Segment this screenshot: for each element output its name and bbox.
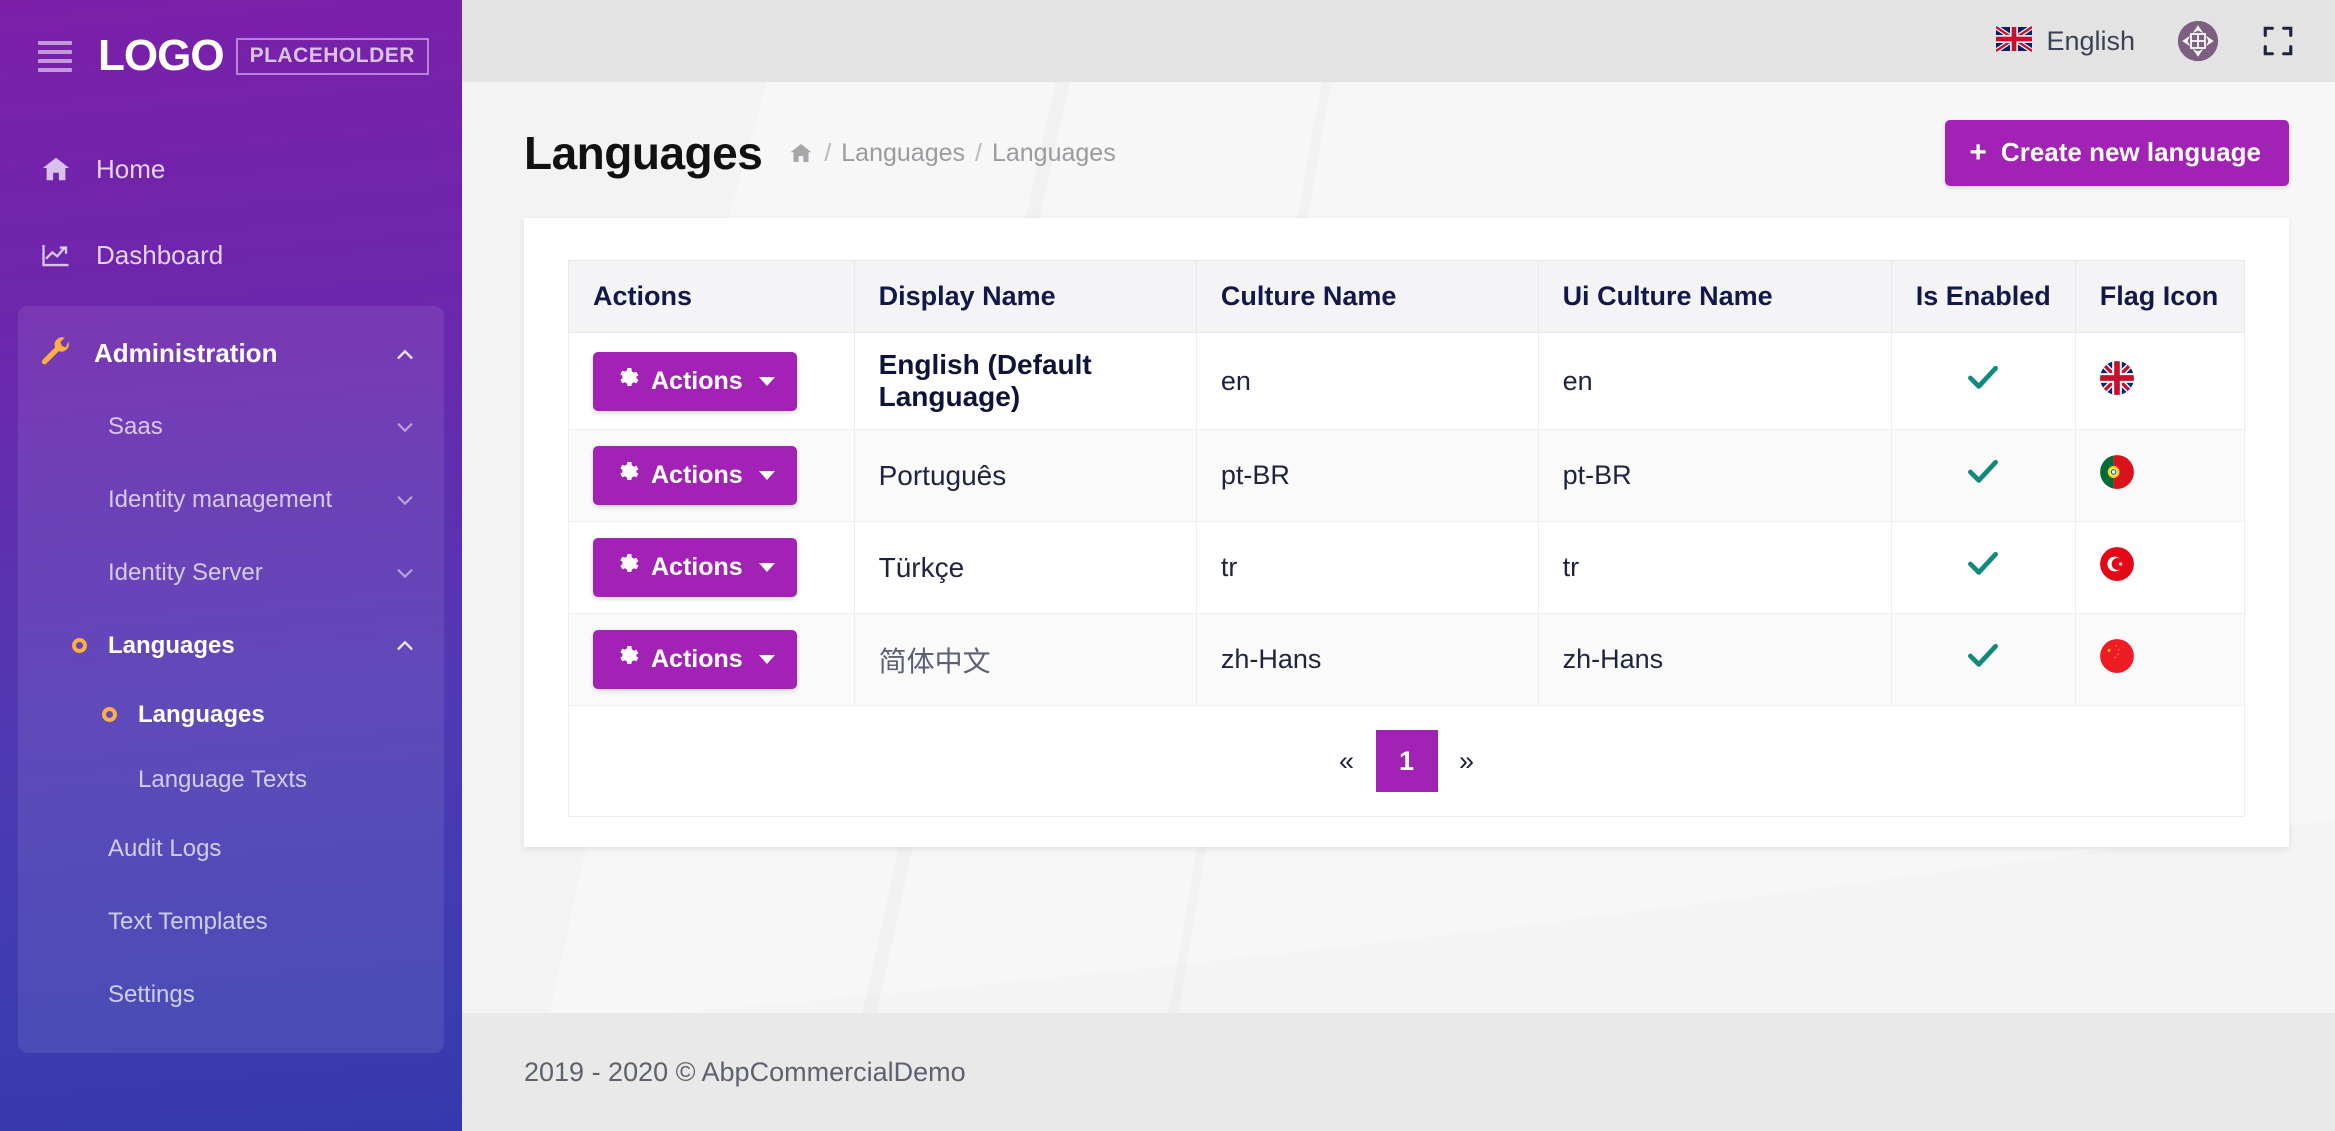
page-content: Languages / Languages / Languages + Crea… — [462, 82, 2335, 1042]
sidebar-nav-top: Home Dashboard — [0, 112, 462, 1053]
main-area: English Language — [462, 0, 2335, 1131]
pagination-prev[interactable]: « — [1318, 730, 1376, 792]
cell-culture-name: zh-Hans — [1196, 614, 1538, 706]
column-header-flag-icon: Flag Icon — [2075, 261, 2244, 333]
cell-flag-icon — [2075, 430, 2244, 522]
sidebar-item-languages-label: Languages — [138, 701, 265, 729]
create-new-language-button[interactable]: + Create new language — [1945, 120, 2289, 186]
display-name-value: Türkçe — [879, 552, 965, 583]
column-header-is-enabled: Is Enabled — [1891, 261, 2075, 333]
cell-culture-name: pt-BR — [1196, 430, 1538, 522]
gear-icon — [615, 552, 639, 583]
page-header: Languages / Languages / Languages + Crea… — [462, 82, 2335, 186]
cell-ui-culture-name: pt-BR — [1538, 430, 1891, 522]
sidebar-item-administration[interactable]: Administration — [18, 316, 444, 390]
flag-uk-icon — [1996, 26, 2032, 57]
gear-icon — [615, 366, 639, 397]
row-actions-label: Actions — [651, 553, 743, 582]
table-body: Actions English (Default Language) en en — [569, 333, 2245, 817]
sidebar-item-text-templates-label: Text Templates — [108, 908, 416, 936]
row-actions-label: Actions — [651, 461, 743, 490]
cell-culture-name: tr — [1196, 522, 1538, 614]
sidebar-group-administration: Administration Saas Identity management — [18, 306, 444, 1053]
pagination-next[interactable]: » — [1438, 730, 1496, 792]
caret-down-icon — [759, 655, 775, 664]
breadcrumb-separator: / — [824, 139, 831, 168]
chevron-up-icon — [394, 635, 416, 657]
table-row: Actions English (Default Language) en en — [569, 333, 2245, 430]
footer: 2019 - 2020 © AbpCommercialDemo — [462, 1013, 2335, 1131]
cell-actions: Actions — [569, 333, 855, 430]
cell-actions: Actions — [569, 430, 855, 522]
app-root: LOGO PLACEHOLDER Home — [0, 0, 2335, 1131]
row-actions-button[interactable]: Actions — [593, 630, 797, 689]
chevron-down-icon — [394, 489, 416, 511]
sidebar-item-home[interactable]: Home — [0, 126, 462, 212]
breadcrumb-item-1[interactable]: Languages — [841, 139, 965, 168]
sidebar-item-audit-logs-label: Audit Logs — [108, 835, 416, 863]
row-actions-label: Actions — [651, 645, 743, 674]
sidebar-item-saas-label: Saas — [108, 413, 378, 441]
active-dot-icon — [72, 638, 87, 653]
table-head: Actions Display Name Culture Name Ui Cul… — [569, 261, 2245, 333]
cell-culture-name: en — [1196, 333, 1538, 430]
cell-display-name: Português — [854, 430, 1196, 522]
languages-card: Actions Display Name Culture Name Ui Cul… — [524, 218, 2289, 847]
cell-flag-icon — [2075, 522, 2244, 614]
caret-down-icon — [759, 563, 775, 572]
plus-icon: + — [1969, 138, 1987, 168]
table-row: Actions 简体中文 zh-Hans zh-Hans — [569, 614, 2245, 706]
caret-down-icon — [759, 377, 775, 386]
cell-is-enabled — [1891, 333, 2075, 430]
home-icon — [38, 154, 74, 184]
logo-badge: PLACEHOLDER — [236, 38, 429, 75]
abp-logo-icon[interactable] — [2177, 20, 2219, 62]
flag-portugal-icon — [2100, 455, 2134, 489]
sidebar-item-identity-management-label: Identity management — [108, 486, 378, 514]
sidebar: LOGO PLACEHOLDER Home — [0, 0, 462, 1131]
column-header-ui-culture-name: Ui Culture Name — [1538, 261, 1891, 333]
cell-ui-culture-name: zh-Hans — [1538, 614, 1891, 706]
footer-copyright: 2019 - 2020 © AbpCommercialDemo — [524, 1057, 966, 1088]
breadcrumb: / Languages / Languages — [788, 139, 1115, 168]
brand-area: LOGO PLACEHOLDER — [0, 0, 462, 112]
sidebar-item-identity-management[interactable]: Identity management — [18, 463, 444, 536]
cell-is-enabled — [1891, 614, 2075, 706]
bullet-slot — [96, 707, 122, 722]
sidebar-item-text-templates[interactable]: Text Templates — [18, 885, 444, 958]
display-name-value: Português — [879, 460, 1007, 491]
row-actions-button[interactable]: Actions — [593, 446, 797, 505]
sidebar-item-languages[interactable]: Languages — [18, 682, 444, 747]
table-header-row: Actions Display Name Culture Name Ui Cul… — [569, 261, 2245, 333]
flag-uk-icon — [2100, 361, 2134, 395]
cell-is-enabled — [1891, 430, 2075, 522]
column-header-display-name: Display Name — [854, 261, 1196, 333]
cell-flag-icon — [2075, 333, 2244, 430]
column-header-actions: Actions — [569, 261, 855, 333]
table-row: Actions Português pt-BR pt-BR — [569, 430, 2245, 522]
cell-ui-culture-name: en — [1538, 333, 1891, 430]
caret-down-icon — [759, 471, 775, 480]
table-row: Actions Türkçe tr tr — [569, 522, 2245, 614]
fullscreen-icon[interactable] — [2261, 24, 2295, 58]
sidebar-item-languages-group-label: Languages — [108, 632, 378, 660]
breadcrumb-item-2[interactable]: Languages — [992, 139, 1116, 168]
cell-ui-culture-name: tr — [1538, 522, 1891, 614]
home-icon[interactable] — [788, 141, 814, 165]
cell-flag-icon — [2075, 614, 2244, 706]
breadcrumb-separator: / — [975, 139, 982, 168]
gear-icon — [615, 644, 639, 675]
pagination-page-1[interactable]: 1 — [1376, 730, 1438, 792]
column-header-culture-name: Culture Name — [1196, 261, 1538, 333]
cell-actions: Actions — [569, 614, 855, 706]
sidebar-item-language-texts-label: Language Texts — [138, 766, 307, 794]
row-actions-button[interactable]: Actions — [593, 538, 797, 597]
flag-china-icon — [2100, 639, 2134, 673]
languages-table: Actions Display Name Culture Name Ui Cul… — [568, 260, 2245, 817]
cell-display-name: 简体中文 — [854, 614, 1196, 706]
chevron-down-icon — [394, 416, 416, 438]
cell-display-name: Türkçe — [854, 522, 1196, 614]
check-icon — [1966, 456, 2000, 494]
language-selector[interactable]: English — [1996, 26, 2135, 57]
gear-icon — [615, 460, 639, 491]
sidebar-item-settings[interactable]: Settings — [18, 958, 444, 1031]
page-title: Languages — [524, 126, 762, 180]
sidebar-item-dashboard[interactable]: Dashboard — [0, 212, 462, 298]
cell-is-enabled — [1891, 522, 2075, 614]
sidebar-item-dashboard-label: Dashboard — [96, 240, 428, 271]
check-icon — [1966, 640, 2000, 678]
display-name-value: English (Default Language) — [879, 349, 1092, 412]
chevron-down-icon — [394, 562, 416, 584]
topbar: English — [462, 0, 2335, 82]
chevron-up-icon — [394, 342, 416, 364]
sidebar-item-languages-group[interactable]: Languages — [18, 609, 444, 682]
active-dot-icon — [102, 707, 117, 722]
row-actions-label: Actions — [651, 367, 743, 396]
flag-turkey-icon — [2100, 547, 2134, 581]
check-icon — [1966, 548, 2000, 586]
sidebar-item-identity-server[interactable]: Identity Server — [18, 536, 444, 609]
sidebar-item-language-texts[interactable]: Language Texts — [18, 747, 444, 812]
table-pagination-row: « 1 » — [569, 706, 2245, 817]
sidebar-item-identity-server-label: Identity Server — [108, 559, 378, 587]
pagination: « 1 » — [593, 722, 2220, 800]
cell-pagination: « 1 » — [569, 706, 2245, 817]
hamburger-icon[interactable] — [38, 41, 72, 72]
cell-actions: Actions — [569, 522, 855, 614]
sidebar-item-administration-label: Administration — [94, 338, 374, 369]
cell-display-name: English (Default Language) — [854, 333, 1196, 430]
sidebar-item-audit-logs[interactable]: Audit Logs — [18, 812, 444, 885]
sidebar-item-home-label: Home — [96, 154, 428, 185]
create-new-language-label: Create new language — [2001, 137, 2261, 168]
sidebar-item-saas[interactable]: Saas — [18, 390, 444, 463]
logo[interactable]: LOGO PLACEHOLDER — [98, 31, 429, 81]
display-name-value: 简体中文 — [879, 646, 991, 677]
check-icon — [1966, 362, 2000, 400]
row-actions-button[interactable]: Actions — [593, 352, 797, 411]
language-selector-label: English — [2046, 26, 2135, 57]
sidebar-item-settings-label: Settings — [108, 981, 416, 1009]
chart-line-icon — [38, 240, 74, 270]
logo-text: LOGO — [98, 31, 224, 81]
wrench-icon — [38, 337, 74, 369]
bullet-slot — [66, 638, 92, 653]
